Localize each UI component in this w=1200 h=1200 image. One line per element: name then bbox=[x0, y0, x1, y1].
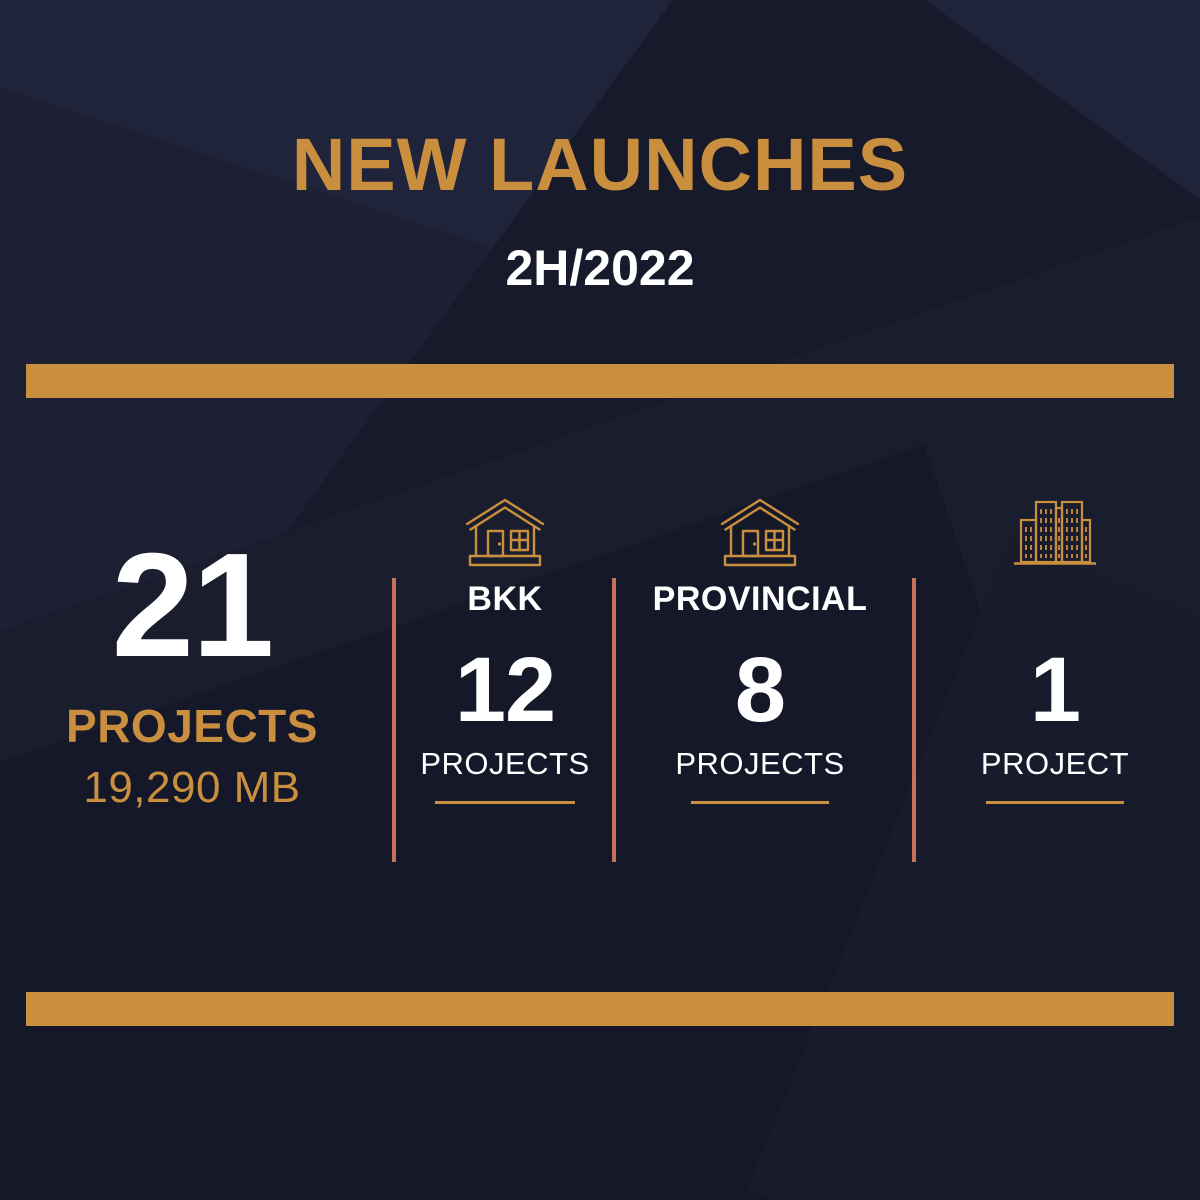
stat-block-provincial: PROVINCIAL 8 PROJECTS bbox=[620, 496, 900, 804]
stat-unit-provincial: PROJECTS bbox=[620, 748, 900, 779]
infographic-poster: NEW LAUNCHES 2H/2022 21 PROJECTS 19,290 … bbox=[0, 0, 1200, 1200]
divider-bar-bottom bbox=[26, 992, 1174, 1026]
stat-label-condo bbox=[930, 582, 1180, 622]
stat-number-provincial: 8 bbox=[620, 644, 900, 736]
stat-label-bkk: BKK bbox=[395, 582, 615, 622]
stat-underline-bkk bbox=[435, 801, 575, 804]
total-projects-unit: PROJECTS bbox=[42, 698, 342, 756]
total-projects-number: 21 bbox=[42, 532, 342, 680]
house-icon bbox=[620, 496, 900, 570]
page-subtitle: 2H/2022 bbox=[0, 243, 1200, 293]
page-title: NEW LAUNCHES bbox=[0, 128, 1200, 202]
total-value: 19,290 MB bbox=[42, 762, 342, 815]
stat-underline-condo bbox=[986, 801, 1124, 804]
divider-bar-top bbox=[26, 364, 1174, 398]
stat-number-condo: 1 bbox=[930, 644, 1180, 736]
stat-block-condo: 1 PROJECT bbox=[930, 496, 1180, 804]
building-icon bbox=[930, 496, 1180, 570]
stat-label-provincial: PROVINCIAL bbox=[620, 582, 900, 622]
house-icon bbox=[395, 496, 615, 570]
stat-number-bkk: 12 bbox=[395, 644, 615, 736]
stat-block-bkk: BKK 12 PROJECTS bbox=[395, 496, 615, 804]
vertical-divider-3 bbox=[912, 578, 916, 862]
stat-unit-condo: PROJECT bbox=[930, 748, 1180, 779]
total-summary: 21 PROJECTS 19,290 MB bbox=[42, 532, 342, 814]
stat-unit-bkk: PROJECTS bbox=[395, 748, 615, 779]
stat-underline-provincial bbox=[691, 801, 829, 804]
